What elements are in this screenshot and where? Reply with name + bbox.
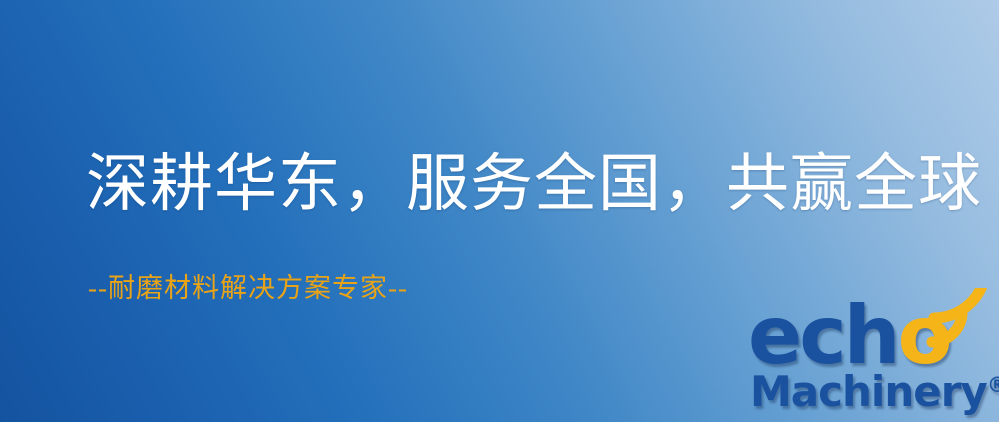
signal-waves-icon bbox=[924, 288, 998, 350]
hero-banner: 深耕华东，服务全国，共赢全球 --耐磨材料解决方案专家-- echo Machi… bbox=[0, 0, 999, 422]
page-title: 深耕华东，服务全国，共赢全球 bbox=[86, 148, 982, 220]
logo-tagline-text: Machinery bbox=[750, 367, 987, 416]
registered-trademark-icon: ® bbox=[987, 373, 999, 397]
logo-tagline: Machinery® bbox=[750, 364, 999, 413]
page-subtitle: --耐磨材料解决方案专家-- bbox=[88, 266, 408, 305]
company-logo: echo Machinery® bbox=[748, 296, 996, 420]
